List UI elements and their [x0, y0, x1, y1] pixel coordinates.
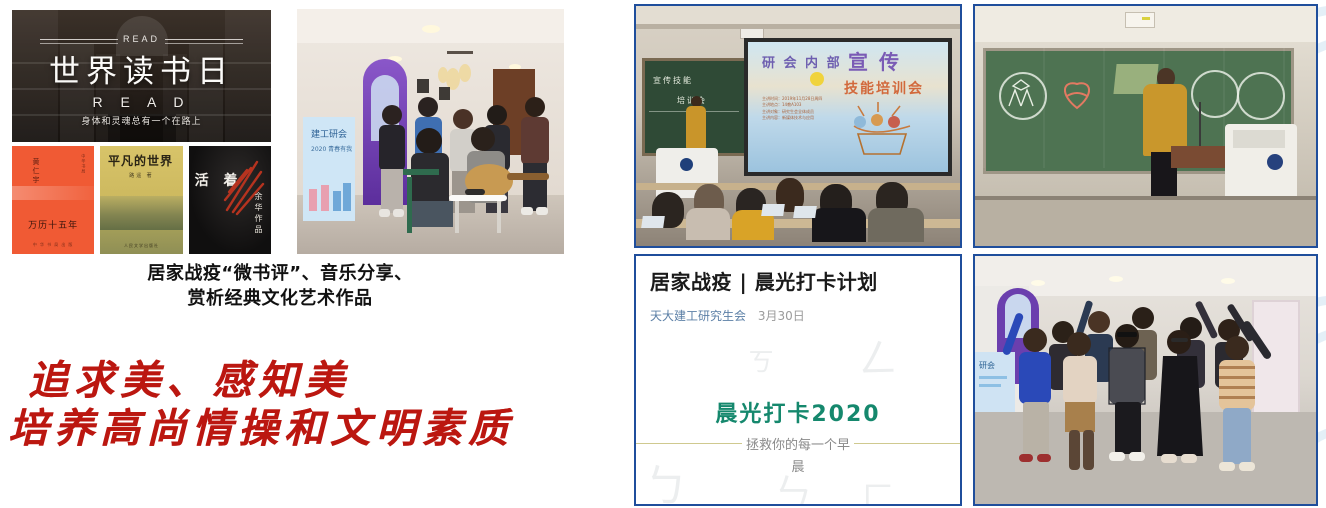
banner-read-top: READ — [12, 34, 271, 44]
book2-publisher: 人民文学出版社 — [100, 243, 182, 249]
chalkboard-photo — [975, 6, 1316, 246]
chalk-circle-5 — [1237, 72, 1285, 120]
hall-audience — [636, 168, 960, 246]
book2-title: 平凡的世界 — [100, 152, 180, 169]
left-panel: READ 世界读书日 R E A D 身体和灵魂总有一个在路上 黄仁宇 中华书局… — [0, 0, 620, 508]
book1-author: 黄仁宇 — [30, 158, 40, 185]
music-sharing-photo: 建工研会 2020 青春有我 — [297, 9, 564, 254]
book1-publisher: 中 华 书 局 出 版 — [12, 242, 94, 248]
group-photo-frame: 研会 — [973, 254, 1318, 506]
ceiling-lamp — [1125, 12, 1155, 28]
console-emblem — [1267, 154, 1283, 170]
projection-screen: 研 会 内 部 宣 传 技能培训会 主讲时间：2019年11月28日周四 主讲地… — [744, 38, 952, 176]
wechat-article-card-frame[interactable]: ㄎ ㄥ ㄅ ㄣ ㄈ 居家战疫 | 晨光打卡计划 天大建工研究生会 3月30日 晨… — [634, 254, 962, 506]
screen-line-1: 研 会 内 部 — [762, 52, 842, 71]
screen-line-3: 技能培训会 — [844, 78, 924, 98]
book2-dune-artwork — [100, 196, 182, 230]
chalk-floor — [975, 200, 1316, 246]
article-hero-title: 晨光打卡2020 — [636, 396, 960, 428]
book-cover-pingfan: 平凡的世界 路遥 著 人民文学出版社 — [100, 146, 182, 254]
article-account-name[interactable]: 天大建工研究生会 — [650, 309, 746, 323]
book1-title: 万历十五年 — [12, 218, 94, 231]
banner-subtitle: 身体和灵魂总有一个在路上 — [12, 114, 271, 127]
book-cover-wanli: 黄仁宇 中华书局 万历十五年 中 华 书 局 出 版 — [12, 146, 94, 254]
book-cover-huozhe: 活 着 余华作品 — [189, 146, 271, 254]
group-photo: 研会 — [975, 256, 1316, 504]
screen-sun-graphic — [810, 72, 824, 86]
svg-text:2020 青春有我: 2020 青春有我 — [311, 145, 352, 153]
blackboard-line-1: 宣传技能 — [653, 75, 693, 86]
book1-band — [12, 186, 94, 200]
lecture-hall-photo: 宣传技能 培训会 研 会 内 部 宣 传 技能培训会 主讲时间：2019年11月… — [636, 6, 960, 246]
slogan-line-2: 培养高尚情操和文明素质 — [8, 404, 620, 454]
article-hero-subtitle-2: 晨 — [636, 456, 960, 475]
article-hero: 晨光打卡2020 — [636, 396, 960, 428]
article-date: 3月30日 — [758, 309, 805, 323]
watermark-glyph-1: ㄎ — [748, 342, 774, 379]
chalk-heart-drawing — [1057, 72, 1097, 112]
hall-speaker-body — [686, 106, 706, 152]
screen-detail-text: 主讲时间：2019年11月28日周四 主讲地点：14教A103 主讲对象：研究生… — [762, 96, 822, 122]
book3-author: 余华作品 — [253, 192, 264, 236]
book-cover-row: 黄仁宇 中华书局 万历十五年 中 华 书 局 出 版 平凡的世界 路遥 著 人民… — [12, 146, 271, 254]
article-meta: 天大建工研究生会 3月30日 — [650, 307, 946, 324]
hero-rule-left — [636, 443, 742, 444]
article-hero-subtitle: 拯救你的每一个早 — [742, 434, 854, 453]
book1-side-note: 中华书局 — [80, 154, 86, 174]
console-keypad — [1233, 130, 1285, 148]
slogan-line-1: 追求美、感知美 — [28, 358, 620, 404]
hall-ceiling-beam — [636, 24, 960, 29]
screen-line-2: 宣 传 — [848, 46, 901, 75]
watermark-glyph-2: ㄥ — [858, 326, 898, 384]
banner-read-big: R E A D — [12, 94, 271, 110]
right-panel: 宣传技能 培训会 研 会 内 部 宣 传 技能培训会 主讲时间：2019年11月… — [630, 0, 1326, 508]
book2-author: 路遥 著 — [100, 172, 182, 179]
left-caption-line-1: 居家战疫“微书评”、音乐分享、 — [0, 262, 560, 287]
left-caption-line-2: 赏析经典文化艺术作品 — [0, 287, 560, 312]
hero-rule-right — [854, 443, 960, 444]
article-title: 居家战疫 | 晨光打卡计划 — [650, 266, 946, 295]
slide-root: READ 世界读书日 R E A D 身体和灵魂总有一个在路上 黄仁宇 中华书局… — [0, 0, 1326, 508]
article-hero-subtitle-row: 拯救你的每一个早 — [636, 434, 960, 453]
watermark-glyph-5: ㄈ — [862, 472, 894, 506]
world-reading-day-banner: READ 世界读书日 R E A D 身体和灵魂总有一个在路上 — [12, 10, 271, 142]
red-slogan: 追求美、感知美 培养高尚情操和文明素质 — [0, 358, 620, 454]
left-caption: 居家战疫“微书评”、音乐分享、 赏析经典文化艺术作品 — [0, 262, 560, 312]
lecture-hall-photo-frame: 宣传技能 培训会 研 会 内 部 宣 传 技能培训会 主讲时间：2019年11月… — [634, 4, 962, 248]
banner-title: 世界读书日 — [12, 46, 271, 91]
lamp-led — [1142, 17, 1150, 20]
svg-text:建工研会: 建工研会 — [311, 128, 347, 140]
chalkboard-photo-frame — [973, 4, 1318, 248]
wechat-article-card[interactable]: ㄎ ㄥ ㄅ ㄣ ㄈ 居家战疫 | 晨光打卡计划 天大建工研究生会 3月30日 晨… — [636, 256, 960, 504]
